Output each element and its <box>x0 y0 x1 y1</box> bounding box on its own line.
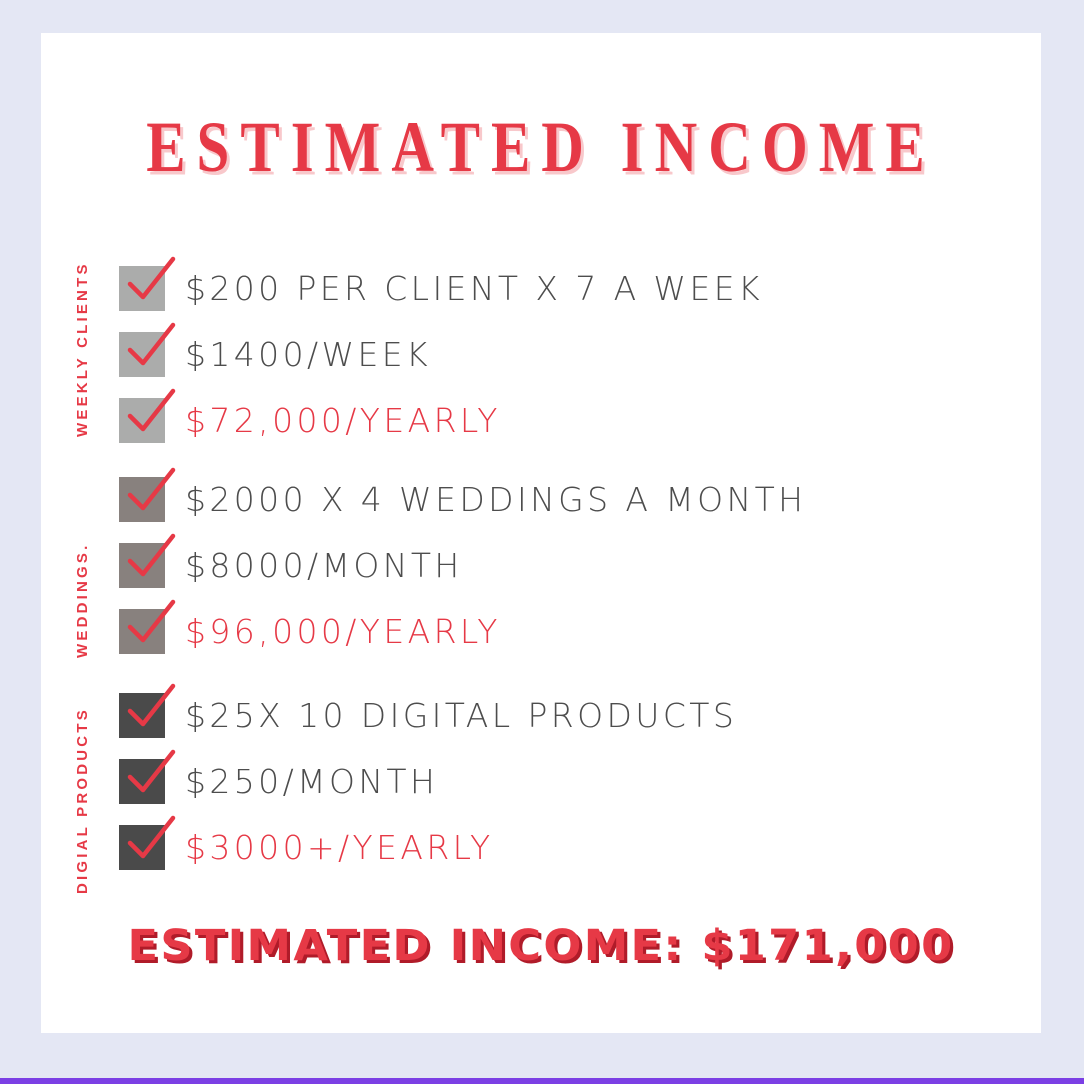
list-item-label: $2000 X 4 WEDDINGS A MONTH <box>185 480 806 519</box>
bottom-accent-strip <box>0 1078 1084 1084</box>
content-card: ESTIMATED INCOME WEEKLY CLIENTS $200 PER… <box>41 33 1041 1033</box>
list-item-label: $3000+/YEARLY <box>185 828 494 867</box>
checkbox-checked-icon[interactable] <box>119 609 165 654</box>
group-rows-weekly-clients: $200 PER CLIENT X 7 A WEEK $1400/WEEK <box>119 255 763 453</box>
list-item-label: $25X 10 DIGITAL PRODUCTS <box>185 696 737 735</box>
check-mark-icon <box>121 323 177 377</box>
checkbox-checked-icon[interactable] <box>119 398 165 443</box>
check-mark-icon <box>121 816 177 870</box>
checkbox-checked-icon[interactable] <box>119 693 165 738</box>
checkbox-checked-icon[interactable] <box>119 266 165 311</box>
check-mark-icon <box>121 750 177 804</box>
list-item-label: $200 PER CLIENT X 7 A WEEK <box>185 269 763 308</box>
list-item[interactable]: $3000+/YEARLY <box>119 814 737 880</box>
checkbox-checked-icon[interactable] <box>119 825 165 870</box>
list-item[interactable]: $25X 10 DIGITAL PRODUCTS <box>119 682 737 748</box>
group-label-weddings: WEDDINGS. <box>69 458 97 658</box>
checkbox-checked-icon[interactable] <box>119 759 165 804</box>
checkbox-checked-icon[interactable] <box>119 477 165 522</box>
list-item-label: $72,000/YEARLY <box>185 401 501 440</box>
group-label-weekly-clients: WEEKLY CLIENTS <box>69 237 97 437</box>
check-mark-icon <box>121 468 177 522</box>
group-rows-digital-products: $25X 10 DIGITAL PRODUCTS $250/MONTH <box>119 682 737 880</box>
check-mark-icon <box>121 534 177 588</box>
check-mark-icon <box>121 389 177 443</box>
check-mark-icon <box>121 600 177 654</box>
estimated-income-total: ESTIMATED INCOME: $171,000 <box>21 921 1061 971</box>
group-label-digital-products: DIGIAL PRODUCTS <box>69 694 97 894</box>
page-title: ESTIMATED INCOME <box>41 105 1041 189</box>
list-item-label: $96,000/YEARLY <box>185 612 501 651</box>
list-item[interactable]: $1400/WEEK <box>119 321 763 387</box>
check-mark-icon <box>121 684 177 738</box>
checkbox-checked-icon[interactable] <box>119 543 165 588</box>
list-item-label: $8000/MONTH <box>185 546 463 585</box>
list-item[interactable]: $8000/MONTH <box>119 532 806 598</box>
list-item[interactable]: $72,000/YEARLY <box>119 387 763 453</box>
list-item-label: $250/MONTH <box>185 762 438 801</box>
estimated-income-infographic: ESTIMATED INCOME WEEKLY CLIENTS $200 PER… <box>0 0 1084 1084</box>
checkbox-checked-icon[interactable] <box>119 332 165 377</box>
list-item[interactable]: $2000 X 4 WEDDINGS A MONTH <box>119 466 806 532</box>
group-rows-weddings: $2000 X 4 WEDDINGS A MONTH $8000/MONTH <box>119 466 806 664</box>
list-item[interactable]: $96,000/YEARLY <box>119 598 806 664</box>
list-item[interactable]: $250/MONTH <box>119 748 737 814</box>
list-item-label: $1400/WEEK <box>185 335 431 374</box>
list-item[interactable]: $200 PER CLIENT X 7 A WEEK <box>119 255 763 321</box>
check-mark-icon <box>121 257 177 311</box>
